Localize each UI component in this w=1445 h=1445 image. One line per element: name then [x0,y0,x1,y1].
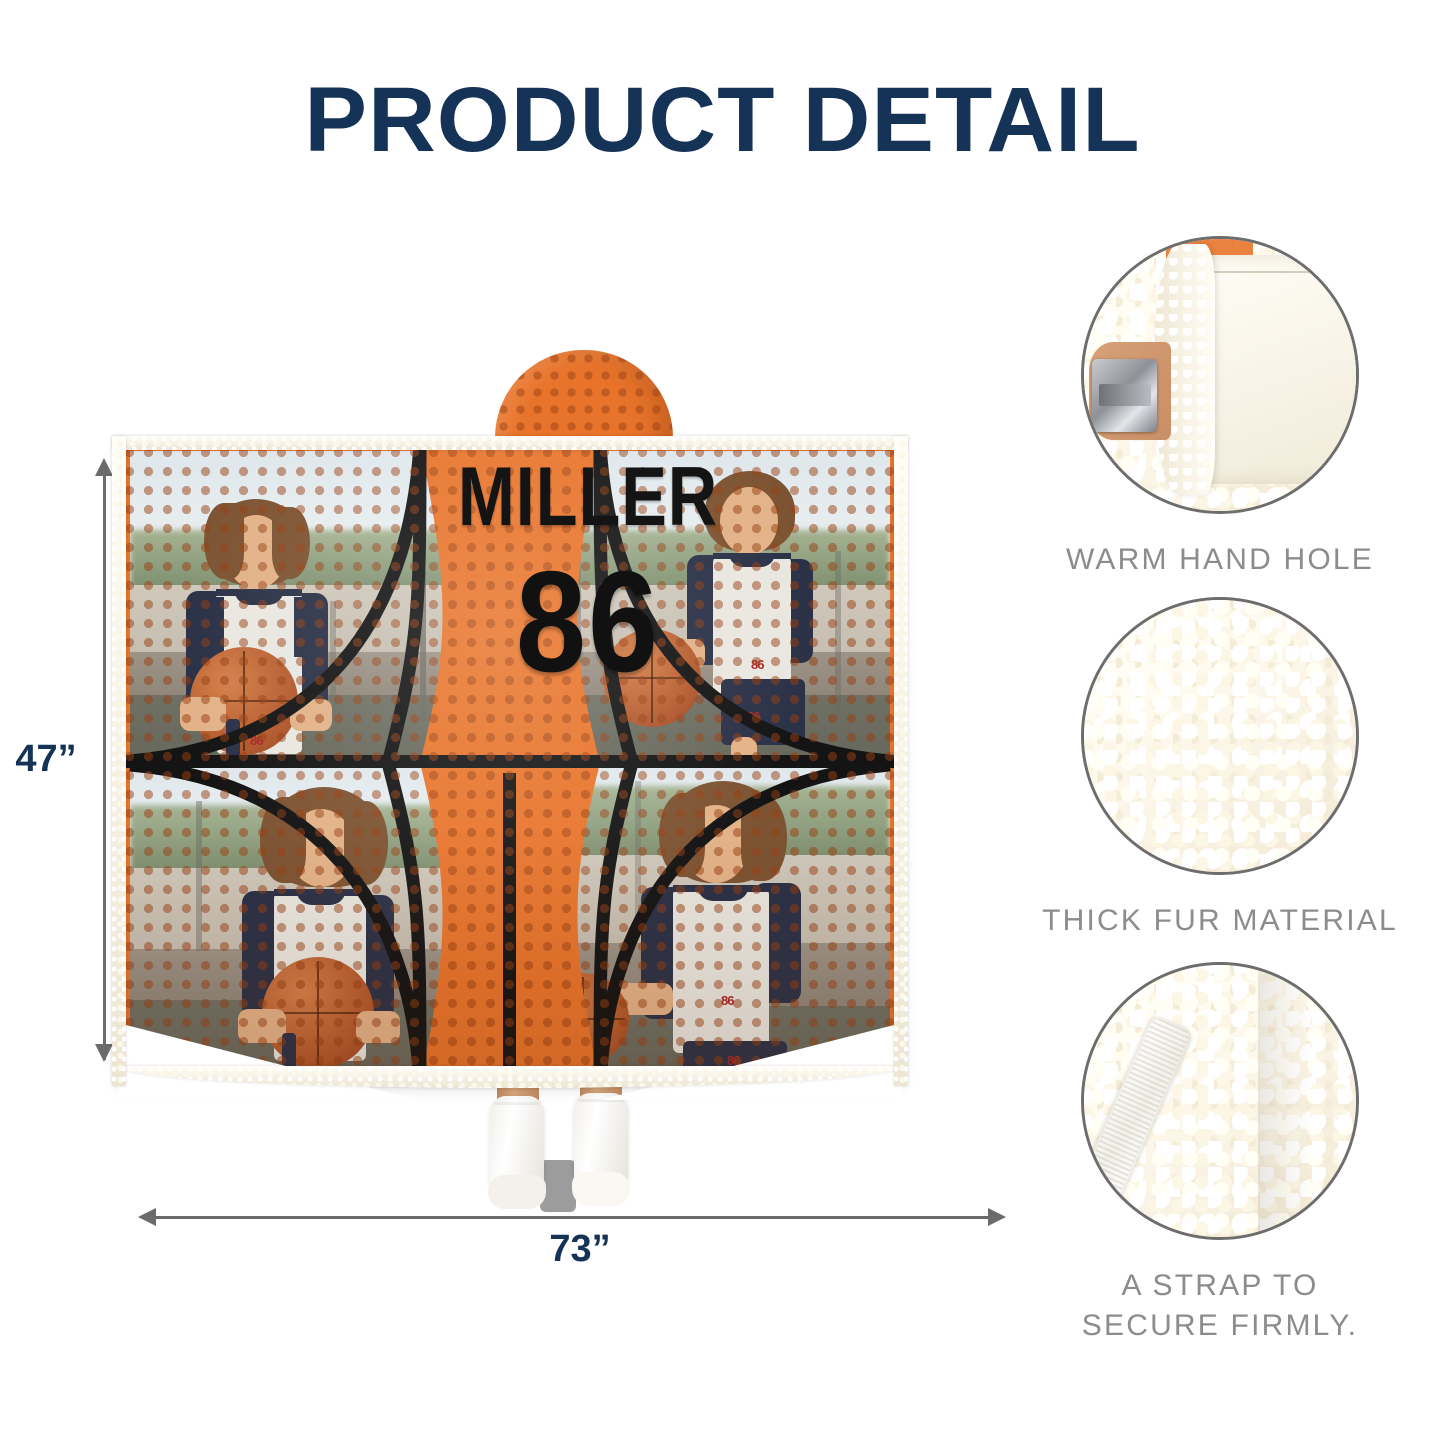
feature-image-strap [1081,962,1359,1240]
dimension-width-label: 73” [440,1228,720,1271]
wristwatch-icon [1092,359,1157,432]
feature-label-fur: THICK FUR MATERIAL [1010,901,1430,941]
dimension-height-label: 47” [0,738,92,781]
model-foot-right [572,1172,630,1206]
dimension-line-horizontal [155,1216,995,1219]
page-title: PRODUCT DETAIL [0,72,1445,169]
arrow-down-icon [95,1044,113,1062]
blanket-trim-top [112,436,908,450]
sherpa-panel [1204,255,1359,483]
feature-secure-strap: A STRAP TO SECURE FIRMLY. [1010,962,1430,1345]
product-composition: 86 86 86 [0,200,1010,1320]
fabric-fold-edge [1258,965,1312,1237]
model-foot-left [488,1175,546,1209]
feature-label-hand-hole: WARM HAND HOLE [1010,540,1430,580]
player-name: MILLER [446,455,731,539]
blanket-trim-left [112,436,126,1086]
player-number: 86 [438,550,738,694]
feature-image-fur [1081,597,1359,875]
feature-label-strap-line1: A STRAP TO [1010,1266,1430,1306]
arrow-left-icon [138,1208,156,1226]
blanket-trim-right [894,436,908,1086]
feature-label-strap: A STRAP TO SECURE FIRMLY. [1010,1266,1430,1345]
personalization-block: MILLER 86 [438,461,738,685]
feature-thick-fur-material: THICK FUR MATERIAL [1010,597,1430,941]
feature-warm-hand-hole: WARM HAND HOLE [1010,236,1430,580]
hooded-blanket-body: 86 86 86 [120,443,900,1083]
dimension-line-vertical [103,470,106,1060]
feature-image-hand-hole [1081,236,1359,514]
arrow-up-icon [95,458,113,476]
feature-label-strap-line2: SECURE FIRMLY. [1010,1306,1430,1346]
arrow-right-icon [988,1208,1006,1226]
